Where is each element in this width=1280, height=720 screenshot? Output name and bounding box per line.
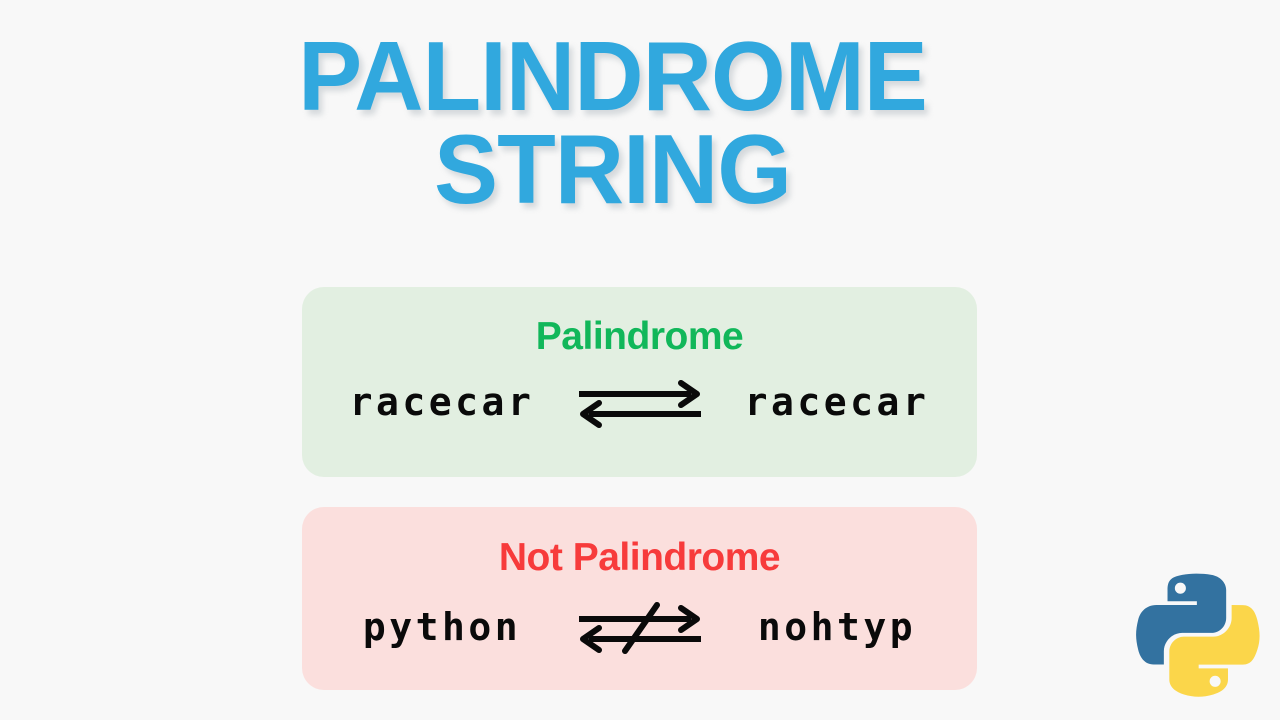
page-title-line-2: STRING — [12, 123, 1213, 216]
palindrome-expression-row: racecar racecar — [302, 374, 977, 430]
slide-canvas: PALINDROME STRING Palindrome racecar rac… — [0, 0, 1280, 720]
not-palindrome-expression-row: python nohtyp — [302, 599, 977, 655]
palindrome-right-word: racecar — [715, 380, 960, 424]
equilibrium-arrow-icon — [565, 374, 715, 430]
equilibrium-arrow-crossed-icon — [565, 599, 715, 655]
not-palindrome-right-word: nohtyp — [715, 605, 960, 649]
not-palindrome-left-word: python — [320, 605, 565, 649]
page-title-line-1: PALINDROME — [12, 30, 1213, 123]
not-palindrome-card-heading: Not Palindrome — [302, 536, 977, 580]
palindrome-left-word: racecar — [320, 380, 565, 424]
palindrome-card: Palindrome racecar racecar — [302, 287, 977, 477]
palindrome-card-heading: Palindrome — [302, 315, 977, 359]
python-logo — [1128, 563, 1266, 701]
not-palindrome-card: Not Palindrome python nohtyp — [302, 507, 977, 690]
page-title: PALINDROME STRING — [0, 30, 1225, 216]
